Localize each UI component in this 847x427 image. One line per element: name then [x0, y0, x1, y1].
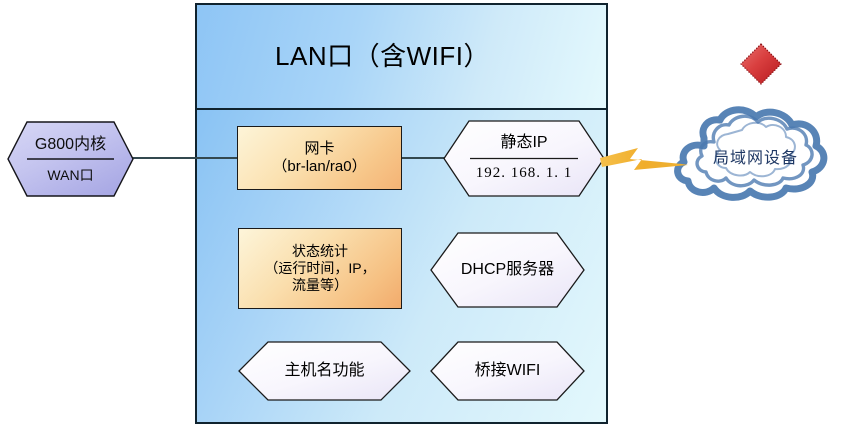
- node-network-card[interactable]: 网卡 （br-lan/ra0）: [237, 126, 402, 190]
- node-bridge-wifi[interactable]: 桥接WIFI: [430, 341, 585, 401]
- node-status-statistics-body: [238, 228, 402, 309]
- connector-kernel-to-nic: [131, 157, 241, 159]
- node-g800-kernel[interactable]: G800内核 WAN口: [7, 121, 134, 197]
- cloud-icon: [668, 100, 843, 208]
- node-network-card-body: [237, 126, 402, 190]
- node-static-ip[interactable]: 静态IP 192. 168. 1. 1: [443, 120, 605, 197]
- diagram-canvas: LAN口（含WIFI） G8: [0, 0, 847, 427]
- node-status-statistics[interactable]: 状态统计 （运行时间，IP， 流量等）: [238, 228, 402, 309]
- node-lan-devices[interactable]: 局域网设备: [668, 100, 843, 208]
- node-hostname-function[interactable]: 主机名功能: [238, 341, 411, 401]
- node-g800-kernel-subtitle: WAN口: [7, 165, 134, 185]
- node-g800-kernel-title: G800内核: [7, 130, 134, 154]
- connector-lightning-bolt-icon: [600, 140, 690, 182]
- red-diamond-icon: [740, 43, 782, 85]
- connector-nic-to-static-ip: [400, 157, 448, 159]
- node-static-ip-value: 192. 168. 1. 1: [443, 165, 605, 182]
- node-static-ip-title: 静态IP: [443, 128, 605, 152]
- node-dhcp-server[interactable]: DHCP服务器: [430, 232, 585, 308]
- lan-container-title: LAN口（含WIFI）: [197, 36, 606, 73]
